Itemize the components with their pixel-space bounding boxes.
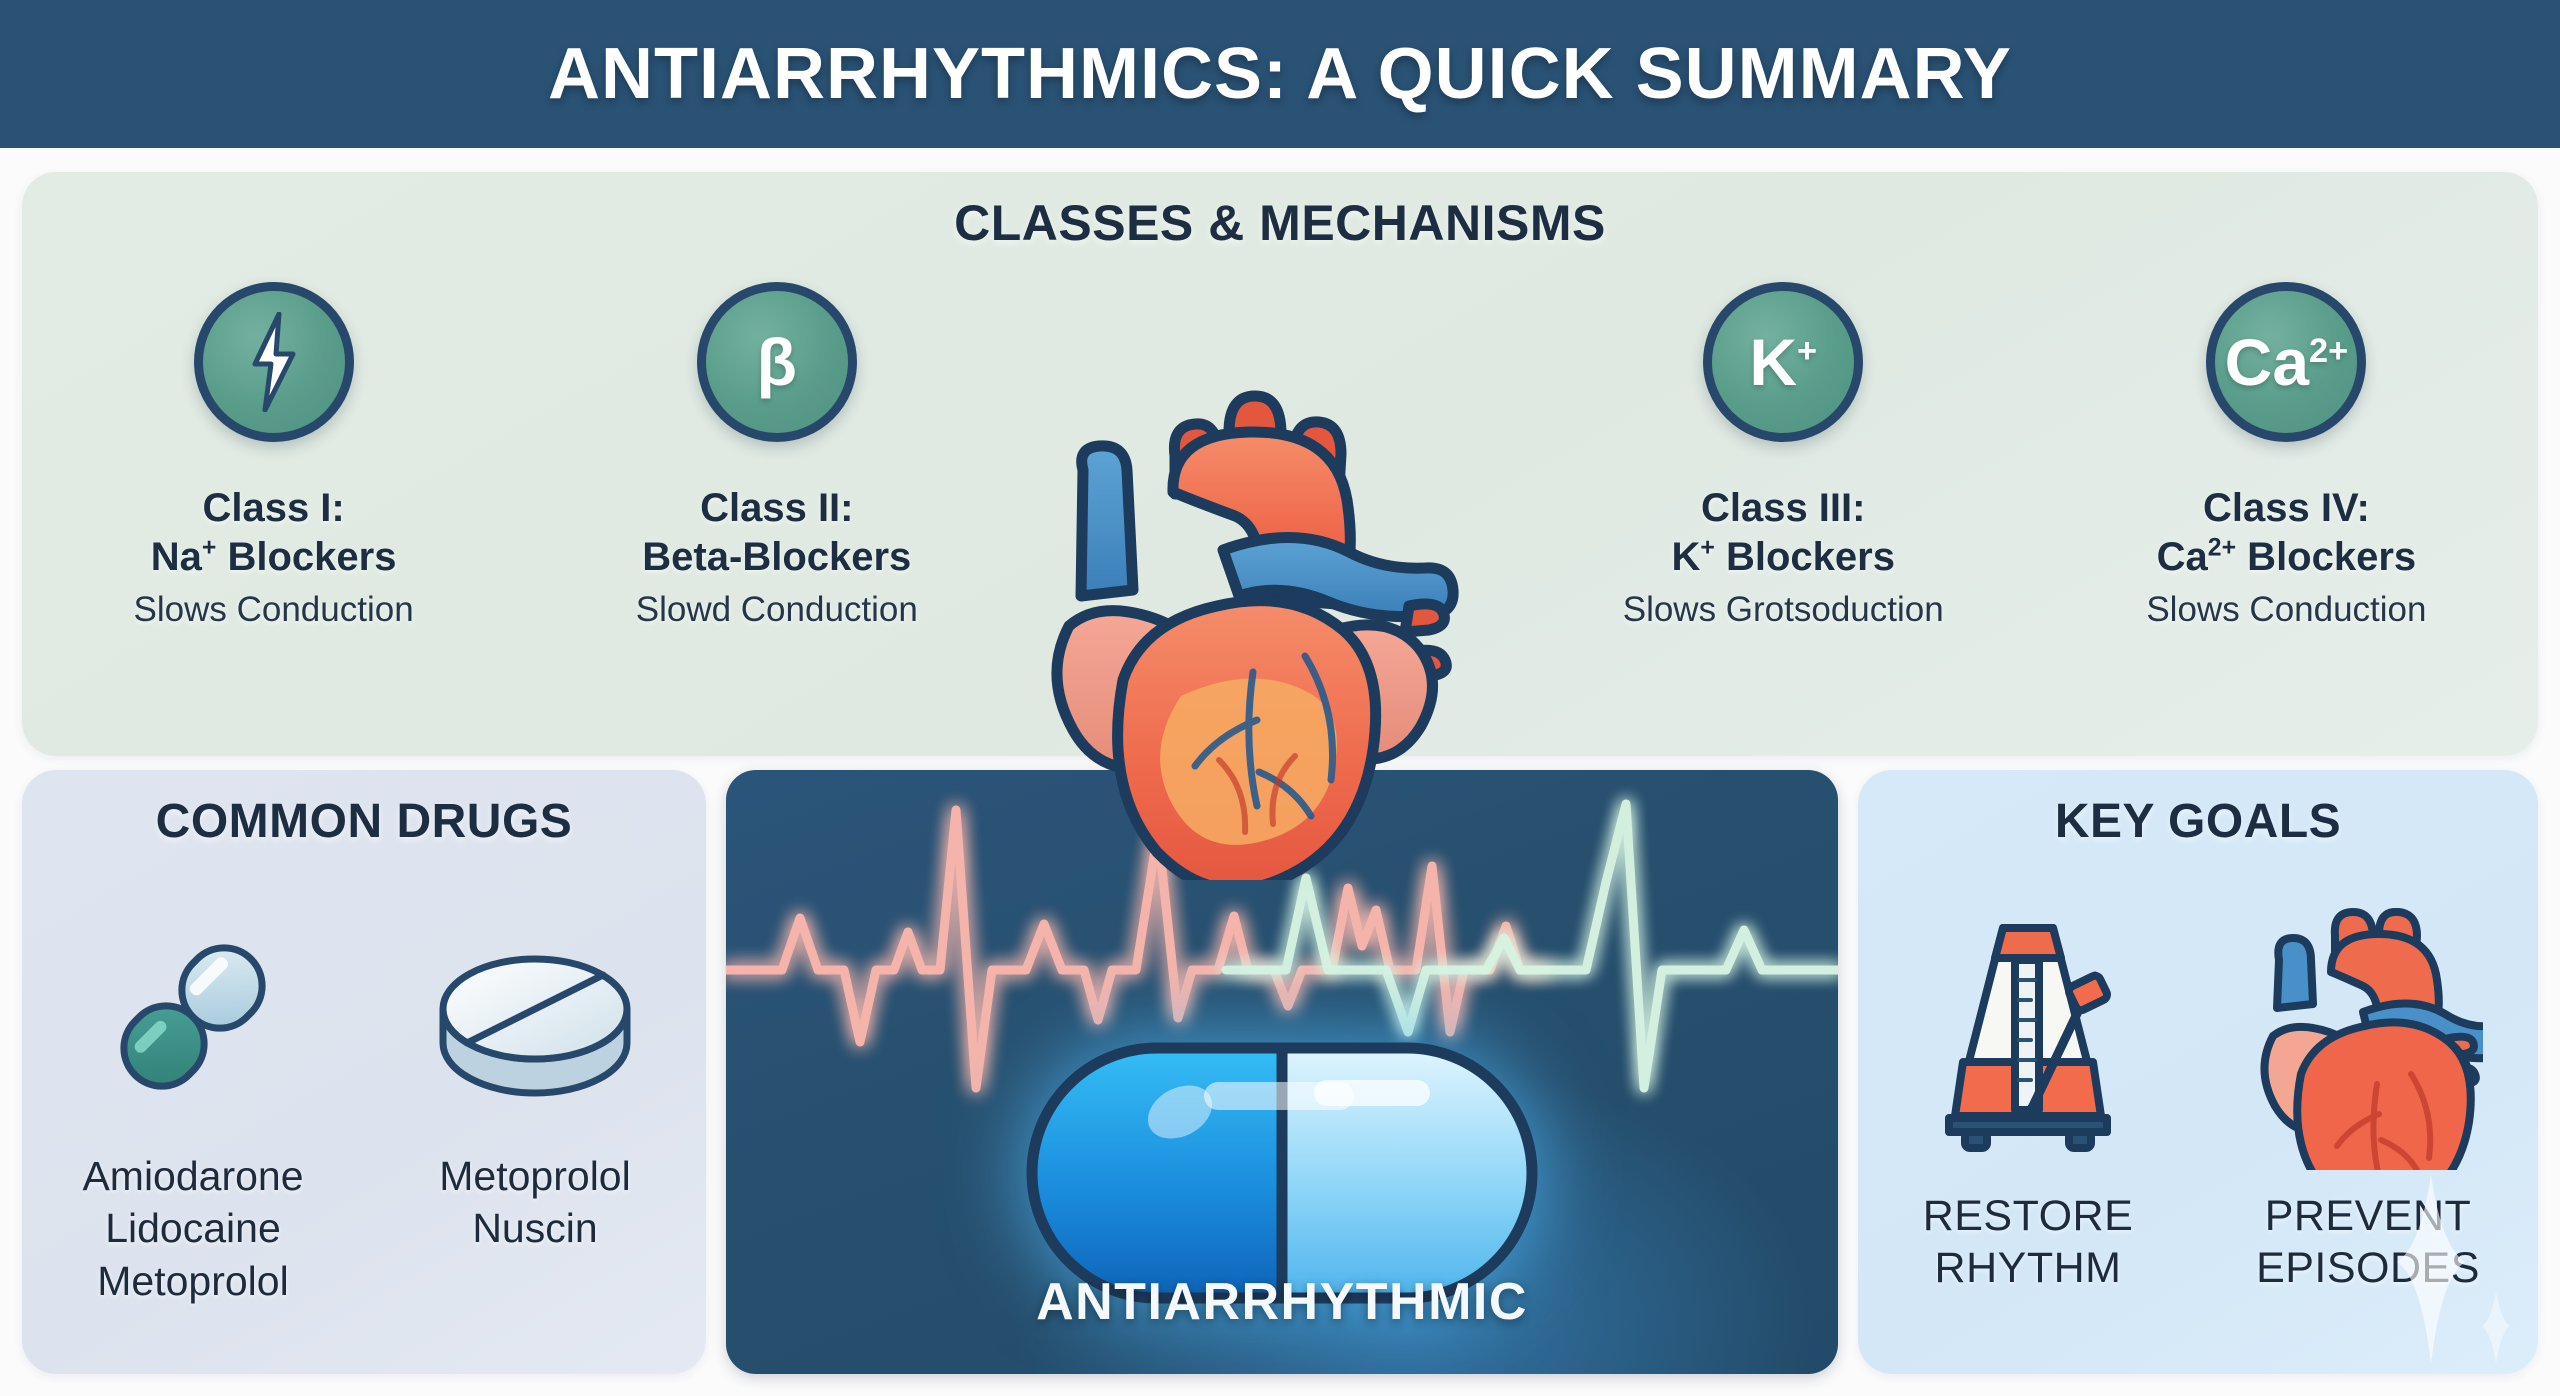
goal-item-restore-rhythm[interactable]: RESTORE RHYTHM	[1858, 898, 2198, 1348]
class-2-subtitle: Slowd Conduction	[636, 590, 918, 630]
key-goals-heading: KEY GOALS	[1858, 794, 2538, 849]
class-card-2[interactable]: β Class II: Beta-Blockers Slowd Conducti…	[525, 282, 1028, 630]
round-tablet-icon	[425, 902, 645, 1132]
classes-center-spacer	[1028, 282, 1531, 630]
center-panel-caption: ANTIARRHYTHMIC	[726, 1272, 1838, 1332]
common-drugs-panel: COMMON DRUGS	[22, 770, 706, 1374]
class-1-title: Class I: Na+ Blockers	[151, 484, 397, 582]
drug-column-1[interactable]: Amiodarone Lidocaine Metoprolol	[22, 902, 364, 1350]
classes-row: Class I: Na+ Blockers Slows Conduction β…	[22, 282, 2538, 630]
class-4-title-line2: Ca2+ Blockers	[2157, 533, 2417, 582]
antiarrhythmic-capsule-icon	[1022, 1038, 1542, 1308]
class-2-title-line2: Beta-Blockers	[642, 533, 911, 582]
class-4-title: Class IV: Ca2+ Blockers	[2157, 484, 2417, 582]
common-drugs-heading: COMMON DRUGS	[22, 794, 706, 849]
drug-name: Amiodarone	[82, 1150, 303, 1202]
class-1-title-line2: Na+ Blockers	[151, 533, 397, 582]
class-2-title: Class II: Beta-Blockers	[642, 484, 911, 582]
metronome-icon	[1923, 898, 2133, 1170]
goal-label-line2: RHYTHM	[1923, 1242, 2134, 1294]
class-4-badge: Ca2+	[2206, 282, 2366, 442]
class-3-title: Class III: K+ Blockers	[1671, 484, 1894, 582]
class-3-title-line1: Class III:	[1671, 484, 1894, 533]
class-3-badge: K+	[1703, 282, 1863, 442]
drug-column-2-names: Metoprolol Nuscin	[439, 1150, 630, 1255]
drug-name: Metoprolol	[82, 1255, 303, 1307]
goal-restore-rhythm-label: RESTORE RHYTHM	[1923, 1190, 2134, 1295]
page-title: ANTIARRHYTHMICS: A QUICK SUMMARY	[548, 33, 2012, 115]
goal-label-line1: PREVENT	[2256, 1190, 2480, 1242]
center-antiarrhythmic-panel: ANTIARRHYTHMIC	[726, 770, 1838, 1374]
class-card-1[interactable]: Class I: Na+ Blockers Slows Conduction	[22, 282, 525, 630]
goal-label-line1: RESTORE	[1923, 1190, 2134, 1242]
key-goals-panel: KEY GOALS	[1858, 770, 2538, 1374]
classes-section-heading: CLASSES & MECHANISMS	[22, 194, 2538, 252]
class-3-subtitle: Slows Grotsoduction	[1623, 590, 1944, 630]
classes-mechanisms-panel: CLASSES & MECHANISMS Class I: Na+ Blocke…	[22, 172, 2538, 756]
class-2-badge: β	[697, 282, 857, 442]
drug-name: Nuscin	[439, 1202, 630, 1254]
potassium-ion-icon: K+	[1749, 329, 1817, 395]
header-bar: ANTIARRHYTHMICS: A QUICK SUMMARY	[0, 0, 2560, 148]
class-4-subtitle: Slows Conduction	[2146, 590, 2426, 630]
class-4-title-line1: Class IV:	[2157, 484, 2417, 533]
class-card-4[interactable]: Ca2+ Class IV: Ca2+ Blockers Slows Condu…	[2035, 282, 2538, 630]
class-1-subtitle: Slows Conduction	[134, 590, 414, 630]
goal-item-prevent-episodes[interactable]: PREVENT EPISODES	[2198, 898, 2538, 1348]
drug-column-2[interactable]: Metoprolol Nuscin	[364, 902, 706, 1350]
class-3-title-line2: K+ Blockers	[1671, 533, 1894, 582]
drug-name: Lidocaine	[82, 1202, 303, 1254]
goal-prevent-episodes-label: PREVENT EPISODES	[2256, 1190, 2480, 1295]
goal-columns: RESTORE RHYTHM	[1858, 898, 2538, 1348]
class-1-title-line1: Class I:	[151, 484, 397, 533]
class-2-title-line1: Class II:	[642, 484, 911, 533]
goal-label-line2: EPISODES	[2256, 1242, 2480, 1294]
class-card-3[interactable]: K+ Class III: K+ Blockers Slows Grotsodu…	[1532, 282, 2035, 630]
drug-columns: Amiodarone Lidocaine Metoprolol	[22, 902, 706, 1350]
anatomical-heart-icon	[2253, 898, 2483, 1170]
lightning-bolt-icon	[239, 312, 309, 412]
drug-name: Metoprolol	[439, 1150, 630, 1202]
beta-symbol-icon: β	[757, 329, 797, 395]
class-1-badge	[194, 282, 354, 442]
drug-column-1-names: Amiodarone Lidocaine Metoprolol	[82, 1150, 303, 1307]
calcium-ion-icon: Ca2+	[2225, 329, 2349, 395]
capsule-pill-icon	[83, 902, 303, 1132]
